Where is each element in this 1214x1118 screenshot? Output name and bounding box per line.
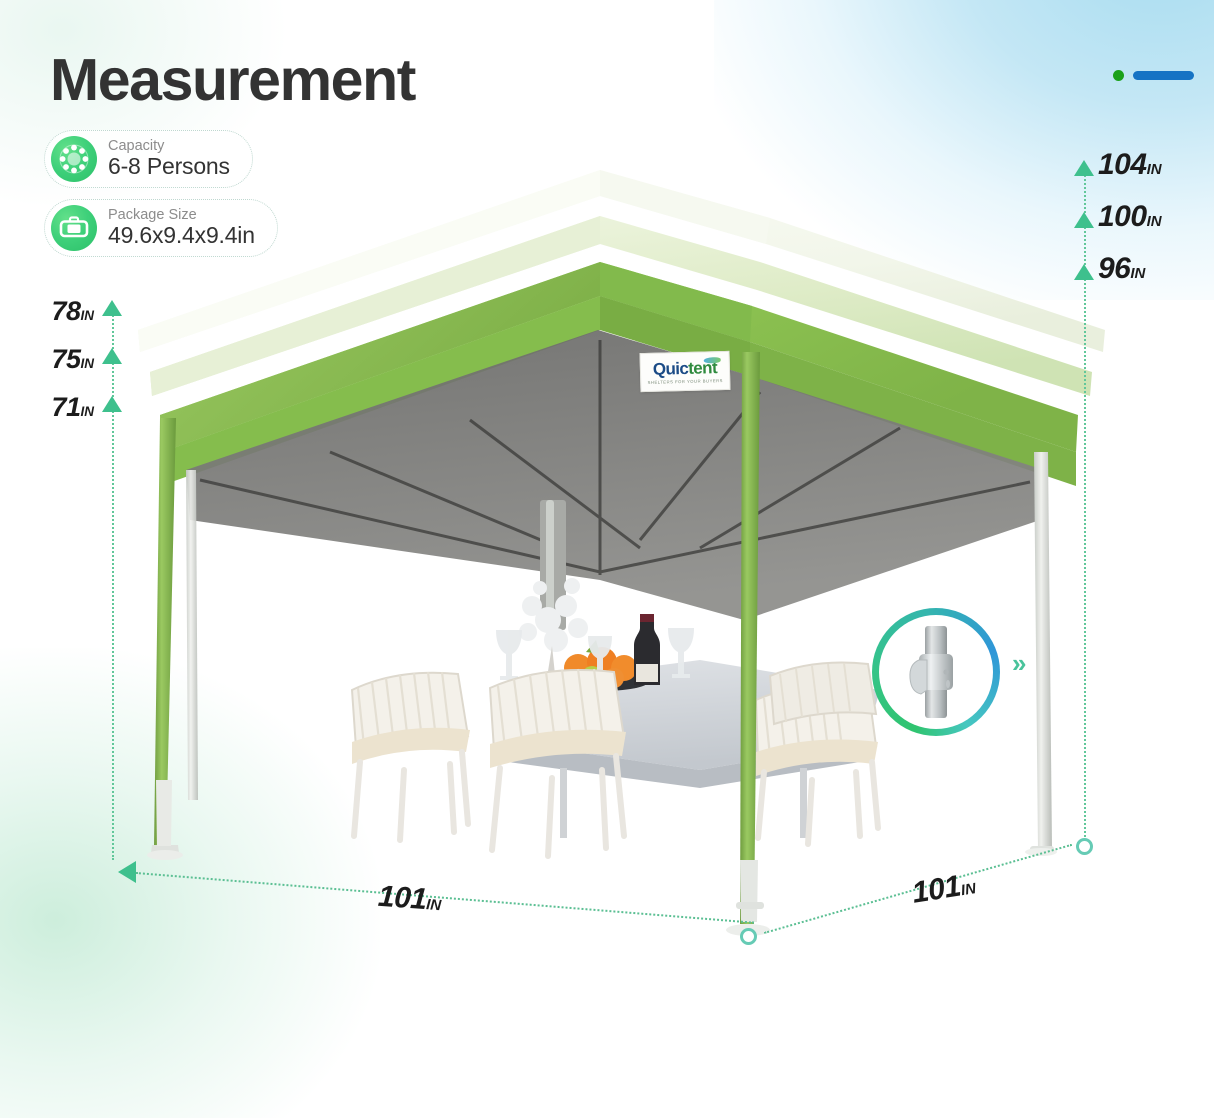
spec-label: Package Size [108,207,255,223]
capacity-icon [51,136,97,182]
right-arrow-96 [1074,264,1094,280]
spec-badge-capacity: Capacity 6-8 Persons [44,130,253,188]
left-dim-71: 71IN [38,392,94,423]
decor-dot-icon [1113,70,1124,81]
callout-chevron-icon: » [1012,648,1023,679]
spec-badge-list: Capacity 6-8 Persons Package Size 49.6x9… [44,130,278,268]
spec-label: Capacity [108,138,230,154]
spec-value: 49.6x9.4x9.4in [108,223,255,249]
left-dim-75: 75IN [38,344,94,375]
height-adjust-callout[interactable] [872,608,1000,736]
left-dim-78: 78IN [38,296,94,327]
spec-value: 6-8 Persons [108,154,230,180]
brand-tagline: SHELTERS FOR YOUR BUYERS [648,378,723,385]
page-title: Measurement [50,46,415,114]
right-measure-endpoint [1076,838,1093,855]
right-arrow-104 [1074,160,1094,176]
right-dim-96: 96IN [1098,252,1145,286]
package-icon [51,205,97,251]
left-arrow-75 [102,348,122,364]
left-arrow-71 [102,396,122,412]
leg-lock-icon [899,624,973,720]
footprint-corner-marker-front [740,928,757,945]
spec-text-package-size: Package Size 49.6x9.4x9.4in [108,207,255,249]
left-arrow-78 [102,300,122,316]
right-dim-104: 104IN [1098,148,1162,182]
brand-logo-patch: Quictent SHELTERS FOR YOUR BUYERS [640,351,731,392]
logo-swoosh-icon [704,357,721,363]
right-dim-100: 100IN [1098,200,1162,234]
footprint-dim-left: 101IN [377,880,443,918]
spec-text-capacity: Capacity 6-8 Persons [108,138,230,180]
footprint-arrow-left [118,861,136,883]
decor-marks [1113,70,1194,81]
callout-inner [879,615,993,729]
left-measure-line [112,312,114,860]
decor-bar-icon [1133,71,1194,80]
infographic-canvas: Measurement Capacity [0,0,1214,958]
spec-badge-package-size: Package Size 49.6x9.4x9.4in [44,199,278,257]
right-arrow-100 [1074,212,1094,228]
